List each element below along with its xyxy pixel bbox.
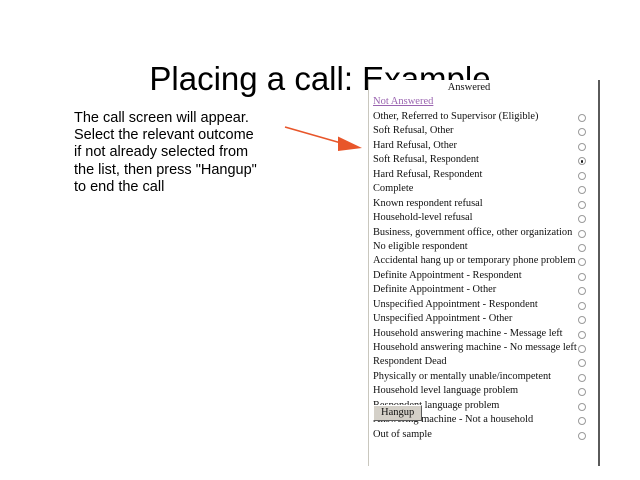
outcome-label: Household answering machine - No message… bbox=[373, 341, 577, 355]
outcome-label: Unspecified Appointment - Other bbox=[373, 312, 512, 326]
outcome-label: Hard Refusal, Respondent bbox=[373, 168, 482, 182]
outcome-label: Other, Referred to Supervisor (Eligible) bbox=[373, 110, 539, 124]
outcome-row[interactable]: Hard Refusal, Other bbox=[369, 139, 601, 153]
outcome-radio-button[interactable] bbox=[578, 403, 586, 411]
outcome-label: Soft Refusal, Respondent bbox=[373, 153, 479, 167]
outcome-row[interactable]: Physically or mentally unable/incompeten… bbox=[369, 370, 601, 384]
outcome-radio-button[interactable] bbox=[578, 316, 586, 324]
outcome-row[interactable]: Soft Refusal, Respondent bbox=[369, 153, 601, 167]
callout-line: if not already selected from bbox=[74, 144, 289, 161]
outcome-list: Other, Referred to Supervisor (Eligible)… bbox=[369, 110, 601, 442]
outcome-radio-button[interactable] bbox=[578, 201, 586, 209]
callout-line: to end the call bbox=[74, 179, 289, 196]
outcome-radio-button[interactable] bbox=[578, 172, 586, 180]
outcome-radio-button[interactable] bbox=[578, 258, 586, 266]
outcome-radio-button[interactable] bbox=[578, 345, 586, 353]
outcome-radio-button[interactable] bbox=[578, 331, 586, 339]
outcome-row[interactable]: Household level language problem bbox=[369, 384, 601, 398]
outcome-radio-button[interactable] bbox=[578, 432, 586, 440]
outcome-label: Out of sample bbox=[373, 428, 432, 442]
outcome-row[interactable]: Respondent Dead bbox=[369, 355, 601, 369]
slide-canvas: Placing a call: Example The call screen … bbox=[0, 0, 640, 480]
outcome-label: Definite Appointment - Other bbox=[373, 283, 496, 297]
outcome-row[interactable]: Definite Appointment - Other bbox=[369, 283, 601, 297]
outcome-row[interactable]: Other, Referred to Supervisor (Eligible) bbox=[369, 110, 601, 124]
outcome-label: Soft Refusal, Other bbox=[373, 124, 454, 138]
outcome-row[interactable]: Accidental hang up or temporary phone pr… bbox=[369, 254, 601, 268]
outcome-row[interactable]: Complete bbox=[369, 182, 601, 196]
outcome-label: Household-level refusal bbox=[373, 211, 473, 225]
outcome-radio-button[interactable] bbox=[578, 230, 586, 238]
outcome-row[interactable]: Unspecified Appointment - Respondent bbox=[369, 298, 601, 312]
outcome-label: Business, government office, other organ… bbox=[373, 226, 572, 240]
pointer-arrow-icon bbox=[283, 118, 368, 158]
not-answered-link[interactable]: Not Answered bbox=[373, 96, 433, 107]
outcome-row[interactable]: Known respondent refusal bbox=[369, 197, 601, 211]
outcome-label: Household level language problem bbox=[373, 384, 518, 398]
outcome-label: Respondent Dead bbox=[373, 355, 447, 369]
call-screen-panel: Answered Not Answered Other, Referred to… bbox=[368, 80, 600, 466]
hangup-button[interactable]: Hangup bbox=[373, 405, 422, 421]
outcome-label: Hard Refusal, Other bbox=[373, 139, 457, 153]
outcome-radio-button[interactable] bbox=[578, 374, 586, 382]
outcome-row[interactable]: No eligible respondent bbox=[369, 240, 601, 254]
outcome-radio-button[interactable] bbox=[578, 114, 586, 122]
answered-header-label: Answered bbox=[369, 82, 569, 93]
outcome-label: Accidental hang up or temporary phone pr… bbox=[373, 254, 576, 268]
outcome-radio-button[interactable] bbox=[578, 186, 586, 194]
outcome-row[interactable]: Unspecified Appointment - Other bbox=[369, 312, 601, 326]
outcome-label: Household answering machine - Message le… bbox=[373, 327, 563, 341]
outcome-row[interactable]: Definite Appointment - Respondent bbox=[369, 269, 601, 283]
outcome-radio-button[interactable] bbox=[578, 244, 586, 252]
outcome-label: Complete bbox=[373, 182, 413, 196]
outcome-row[interactable]: Out of sample bbox=[369, 428, 601, 442]
outcome-label: Definite Appointment - Respondent bbox=[373, 269, 522, 283]
outcome-radio-button[interactable] bbox=[578, 273, 586, 281]
outcome-radio-button[interactable] bbox=[578, 388, 586, 396]
outcome-row[interactable]: Business, government office, other organ… bbox=[369, 226, 601, 240]
callout-line: The call screen will appear. bbox=[74, 110, 289, 127]
outcome-radio-button[interactable] bbox=[578, 128, 586, 136]
outcome-label: Known respondent refusal bbox=[373, 197, 483, 211]
outcome-label: No eligible respondent bbox=[373, 240, 468, 254]
outcome-row[interactable]: Household-level refusal bbox=[369, 211, 601, 225]
callout-line: Select the relevant outcome bbox=[74, 127, 289, 144]
outcome-radio-button[interactable] bbox=[578, 143, 586, 151]
outcome-radio-button[interactable] bbox=[578, 302, 586, 310]
outcome-row[interactable]: Household answering machine - No message… bbox=[369, 341, 601, 355]
outcome-radio-button[interactable] bbox=[578, 287, 586, 295]
outcome-label: Physically or mentally unable/incompeten… bbox=[373, 370, 551, 384]
outcome-row[interactable]: Hard Refusal, Respondent bbox=[369, 168, 601, 182]
callout-line: the list, then press "Hangup" bbox=[74, 162, 289, 179]
outcome-row[interactable]: Soft Refusal, Other bbox=[369, 124, 601, 138]
outcome-label: Unspecified Appointment - Respondent bbox=[373, 298, 538, 312]
outcome-radio-button[interactable] bbox=[578, 359, 586, 367]
outcome-radio-button[interactable] bbox=[578, 157, 586, 165]
outcome-radio-button[interactable] bbox=[578, 417, 586, 425]
outcome-row[interactable]: Household answering machine - Message le… bbox=[369, 327, 601, 341]
outcome-radio-button[interactable] bbox=[578, 215, 586, 223]
callout-text-block: The call screen will appear. Select the … bbox=[74, 110, 289, 196]
